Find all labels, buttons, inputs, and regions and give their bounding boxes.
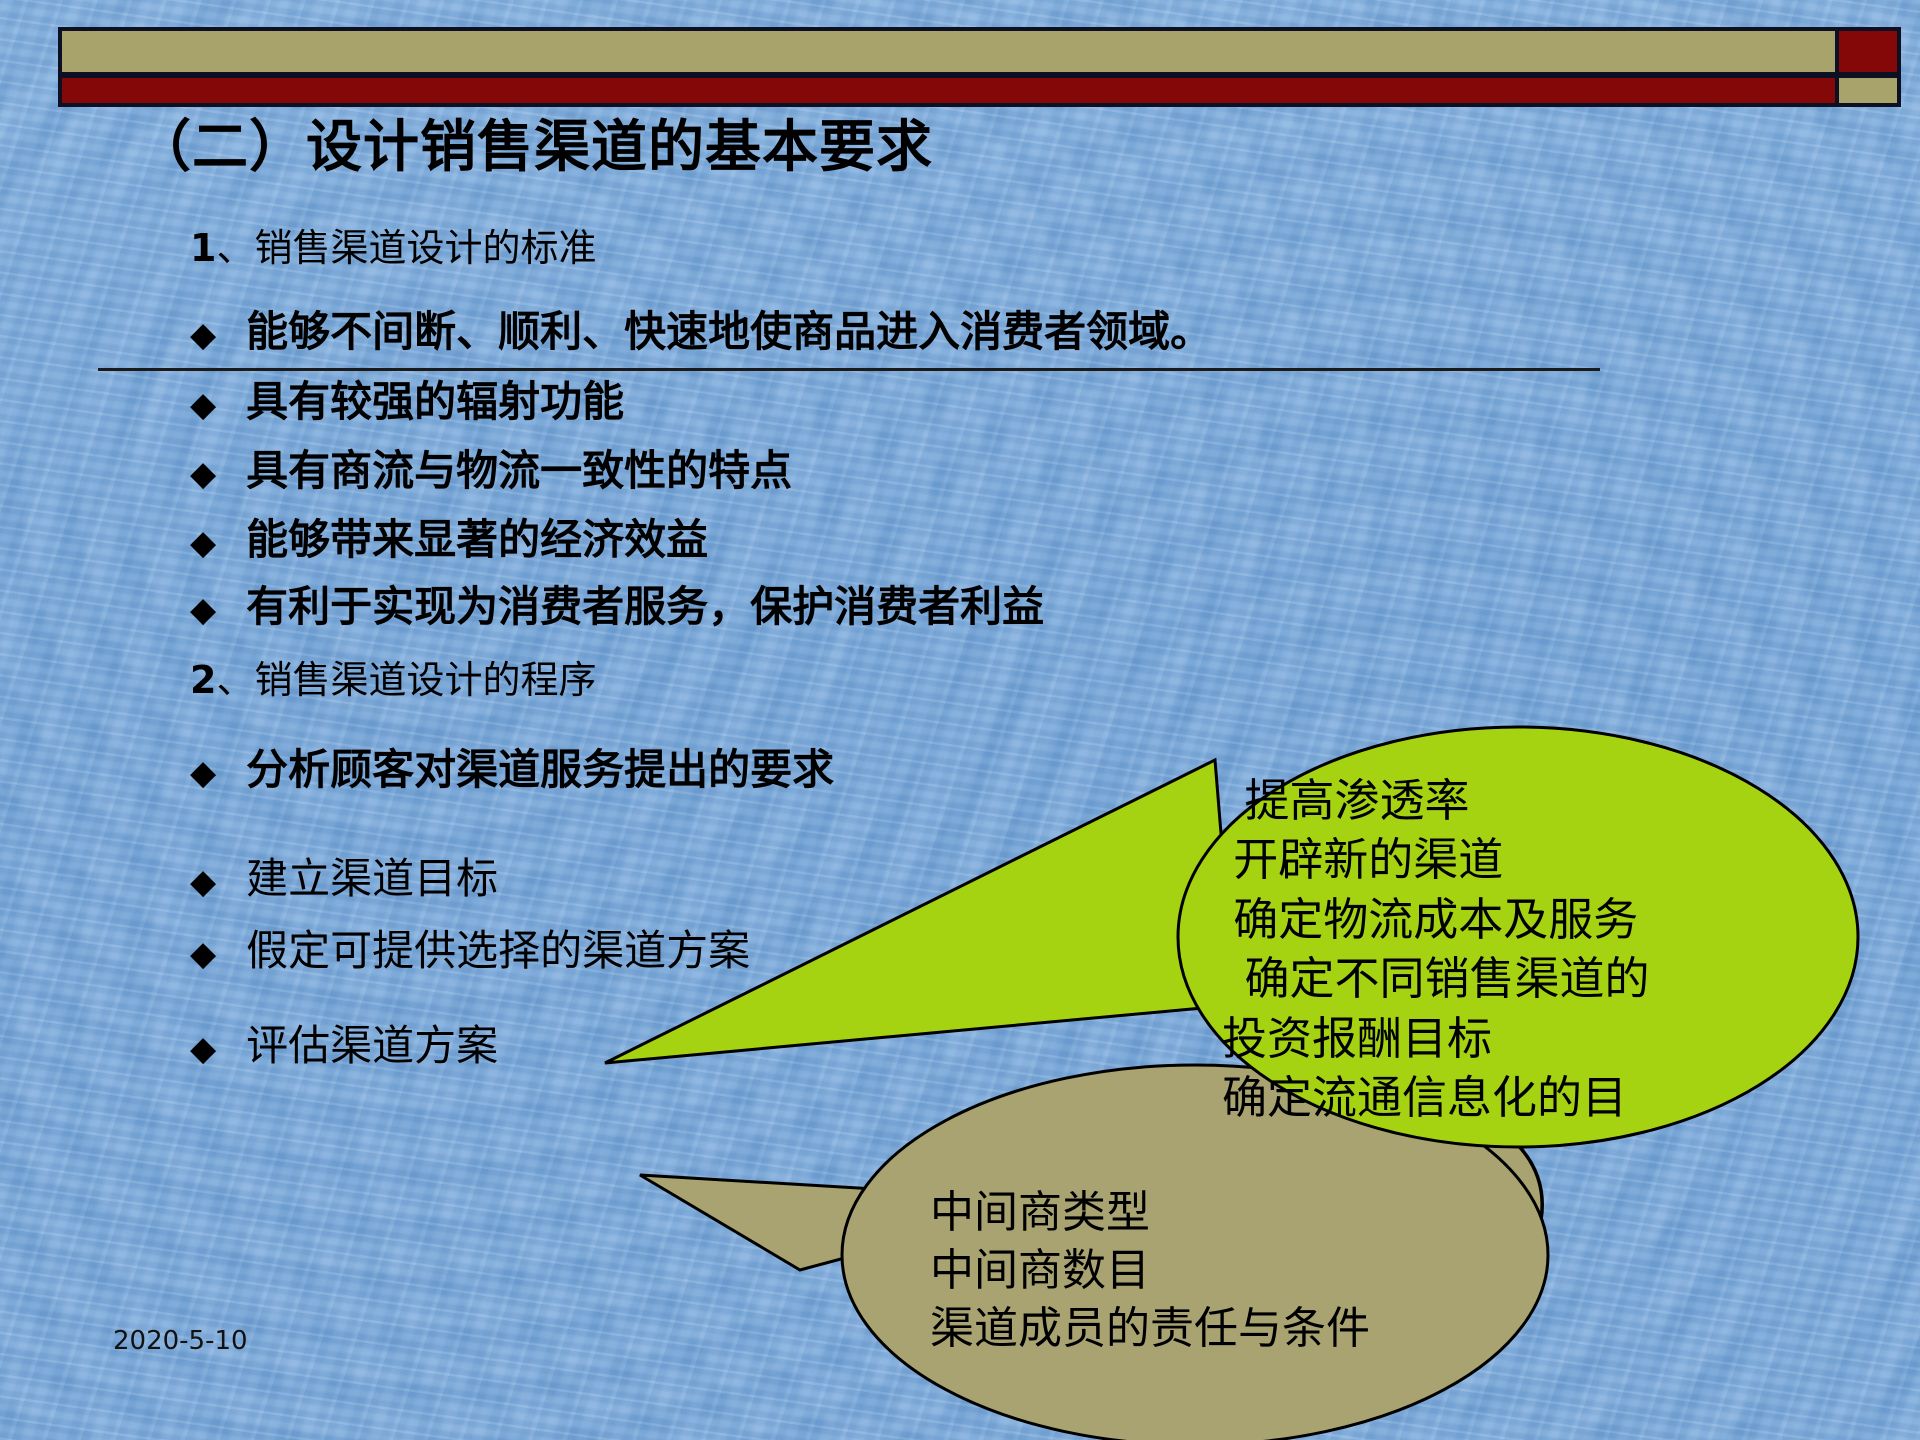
slide-date: 2020-5-10	[113, 1326, 248, 1356]
green-callout-body	[0, 0, 1920, 1440]
slide-canvas: （二）设计销售渠道的基本要求 1、销售渠道设计的标准 ◆ 能够不间断、顺利、快速…	[0, 0, 1920, 1440]
green-callout-text: 提高渗透率 开辟新的渠道 确定物流成本及服务 确定不同销售渠道的 投资报酬目标 …	[1222, 772, 1650, 1128]
